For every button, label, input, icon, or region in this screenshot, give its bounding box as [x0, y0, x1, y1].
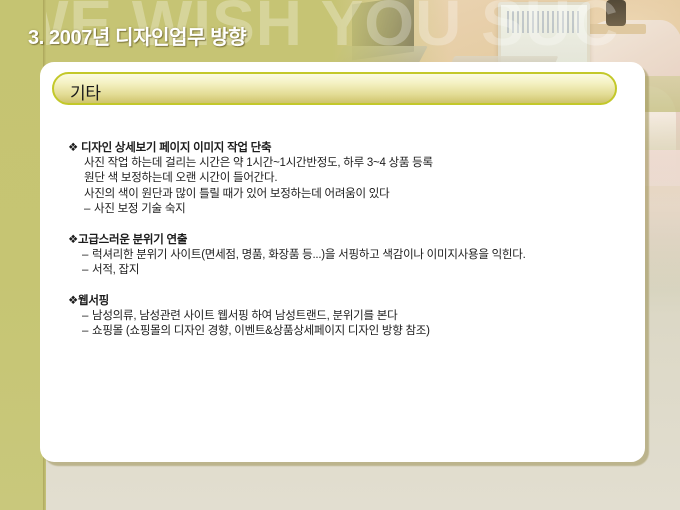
- block-line: 사진 작업 하는데 걸리는 시간은 약 1시간~1시간반정도, 하루 3~4 상…: [68, 156, 608, 171]
- block-heading-text: 고급스러운 분위기 연출: [78, 234, 187, 246]
- block-heading: ❖디자인 상세보기 페이지 이미지 작업 단축: [68, 141, 608, 156]
- dash-bullet-icon: –: [82, 263, 92, 278]
- block-subitem-text: 쇼핑몰 (쇼핑몰의 디자인 경향, 이벤트&상품상세페이지 디자인 방향 참조): [92, 325, 430, 337]
- block-heading: ❖고급스러운 분위기 연출: [68, 233, 608, 248]
- content-block: ❖고급스러운 분위기 연출 –럭셔리한 분위기 사이트(면세점, 명품, 화장품…: [68, 233, 608, 279]
- block-heading-text: 디자인 상세보기 페이지 이미지 작업 단축: [81, 142, 271, 154]
- diamond-bullet-icon: ❖: [68, 233, 78, 248]
- content-block: ❖웹서핑 –남성의류, 남성관련 사이트 웹서핑 하여 남성트랜드, 분위기를 …: [68, 294, 608, 340]
- section-header-label: 기타: [70, 79, 101, 104]
- block-heading: ❖웹서핑: [68, 294, 608, 309]
- presentation-slide: WE WISH YOU SUC 3. 2007년 디자인업무 방향 기타 ❖디자…: [0, 0, 680, 510]
- block-subitem: –남성의류, 남성관련 사이트 웹서핑 하여 남성트랜드, 분위기를 본다: [68, 309, 608, 324]
- section-header-capsule: [52, 72, 617, 105]
- block-subitem: –럭셔리한 분위기 사이트(면세점, 명품, 화장품 등...)을 서핑하고 색…: [68, 248, 608, 263]
- content-block: ❖디자인 상세보기 페이지 이미지 작업 단축 사진 작업 하는데 걸리는 시간…: [68, 141, 608, 217]
- block-subitem: –사진 보정 기술 숙지: [68, 202, 608, 217]
- diamond-bullet-icon: ❖: [68, 141, 81, 156]
- block-line-text: 사진의 색이 원단과 많이 틀릴 때가 있어 보정하는데 어려움이 있다: [84, 188, 389, 200]
- block-subitem-text: 서적, 잡지: [92, 264, 139, 276]
- block-line: 사진의 색이 원단과 많이 틀릴 때가 있어 보정하는데 어려움이 있다: [68, 187, 608, 202]
- block-heading-text: 웹서핑: [78, 295, 109, 307]
- block-subitem: –쇼핑몰 (쇼핑몰의 디자인 경향, 이벤트&상품상세페이지 디자인 방향 참조…: [68, 324, 608, 339]
- block-line-text: 원단 색 보정하는데 오랜 시간이 들어간다.: [84, 172, 277, 184]
- dash-bullet-icon: –: [82, 324, 92, 339]
- dash-bullet-icon: –: [84, 202, 94, 217]
- dash-bullet-icon: –: [82, 248, 92, 263]
- block-subitem-text: 남성의류, 남성관련 사이트 웹서핑 하여 남성트랜드, 분위기를 본다: [92, 310, 397, 322]
- dash-bullet-icon: –: [82, 309, 92, 324]
- block-subitem-text: 사진 보정 기술 숙지: [94, 203, 185, 215]
- block-subitem-text: 럭셔리한 분위기 사이트(면세점, 명품, 화장품 등...)을 서핑하고 색감…: [92, 249, 526, 261]
- block-line-text: 사진 작업 하는데 걸리는 시간은 약 1시간~1시간반정도, 하루 3~4 상…: [84, 157, 433, 169]
- slide-title: 3. 2007년 디자인업무 방향: [28, 21, 246, 50]
- block-subitem: –서적, 잡지: [68, 263, 608, 278]
- block-line: 원단 색 보정하는데 오랜 시간이 들어간다.: [68, 171, 608, 186]
- diamond-bullet-icon: ❖: [68, 294, 78, 309]
- slide-body: ❖디자인 상세보기 페이지 이미지 작업 단축 사진 작업 하는데 걸리는 시간…: [68, 141, 608, 339]
